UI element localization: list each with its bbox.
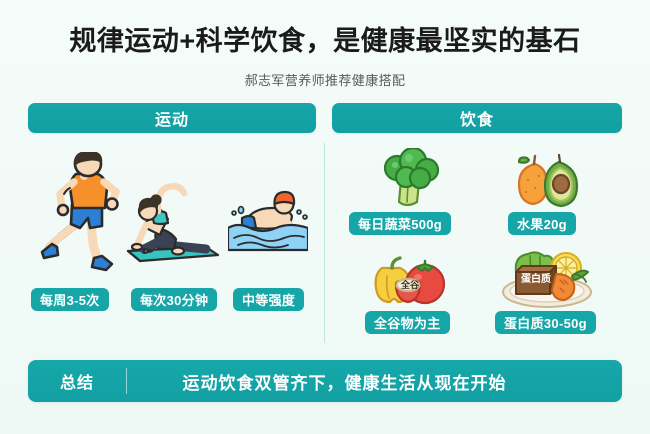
broccoli-icon bbox=[375, 148, 447, 215]
diet-label-vegetables: 每日蔬菜500g bbox=[349, 212, 451, 235]
grain-badge-label: 全谷 bbox=[393, 278, 427, 291]
exercise-label-intensity: 中等强度 bbox=[233, 288, 304, 311]
protein-plate-icon: 蛋白质 bbox=[500, 250, 594, 317]
page-subtitle: 郝志军营养师推荐健康搭配 bbox=[0, 70, 650, 89]
diet-label-grains: 全谷物为主 bbox=[365, 311, 450, 334]
yoga-person-icon bbox=[122, 175, 222, 276]
panel-divider bbox=[324, 143, 325, 343]
fruit-icon bbox=[513, 150, 583, 217]
exercise-label-frequency: 每周3-5次 bbox=[31, 288, 109, 311]
page-title: 规律运动+科学饮食，是健康最坚实的基石 bbox=[0, 26, 650, 57]
exercise-label-duration: 每次30分钟 bbox=[131, 288, 217, 311]
section-header-exercise: 运动 bbox=[28, 103, 316, 133]
diet-label-fruit: 水果20g bbox=[508, 212, 576, 235]
protein-badge-label: 蛋白质 bbox=[516, 270, 556, 285]
summary-label: 总结 bbox=[28, 369, 126, 393]
summary-text: 运动饮食双管齐下，健康生活从现在开始 bbox=[127, 369, 622, 394]
summary-bar: 总结 运动饮食双管齐下，健康生活从现在开始 bbox=[28, 360, 622, 402]
swimming-person-icon bbox=[228, 186, 308, 259]
section-header-diet: 饮食 bbox=[332, 103, 622, 133]
diet-label-protein: 蛋白质30-50g bbox=[495, 311, 596, 334]
infographic-poster: 规律运动+科学饮食，是健康最坚实的基石 郝志军营养师推荐健康搭配 运动 饮食 bbox=[0, 0, 650, 434]
vegetables-bowl-icon: 全谷 bbox=[370, 252, 448, 315]
running-person-icon bbox=[36, 152, 124, 279]
